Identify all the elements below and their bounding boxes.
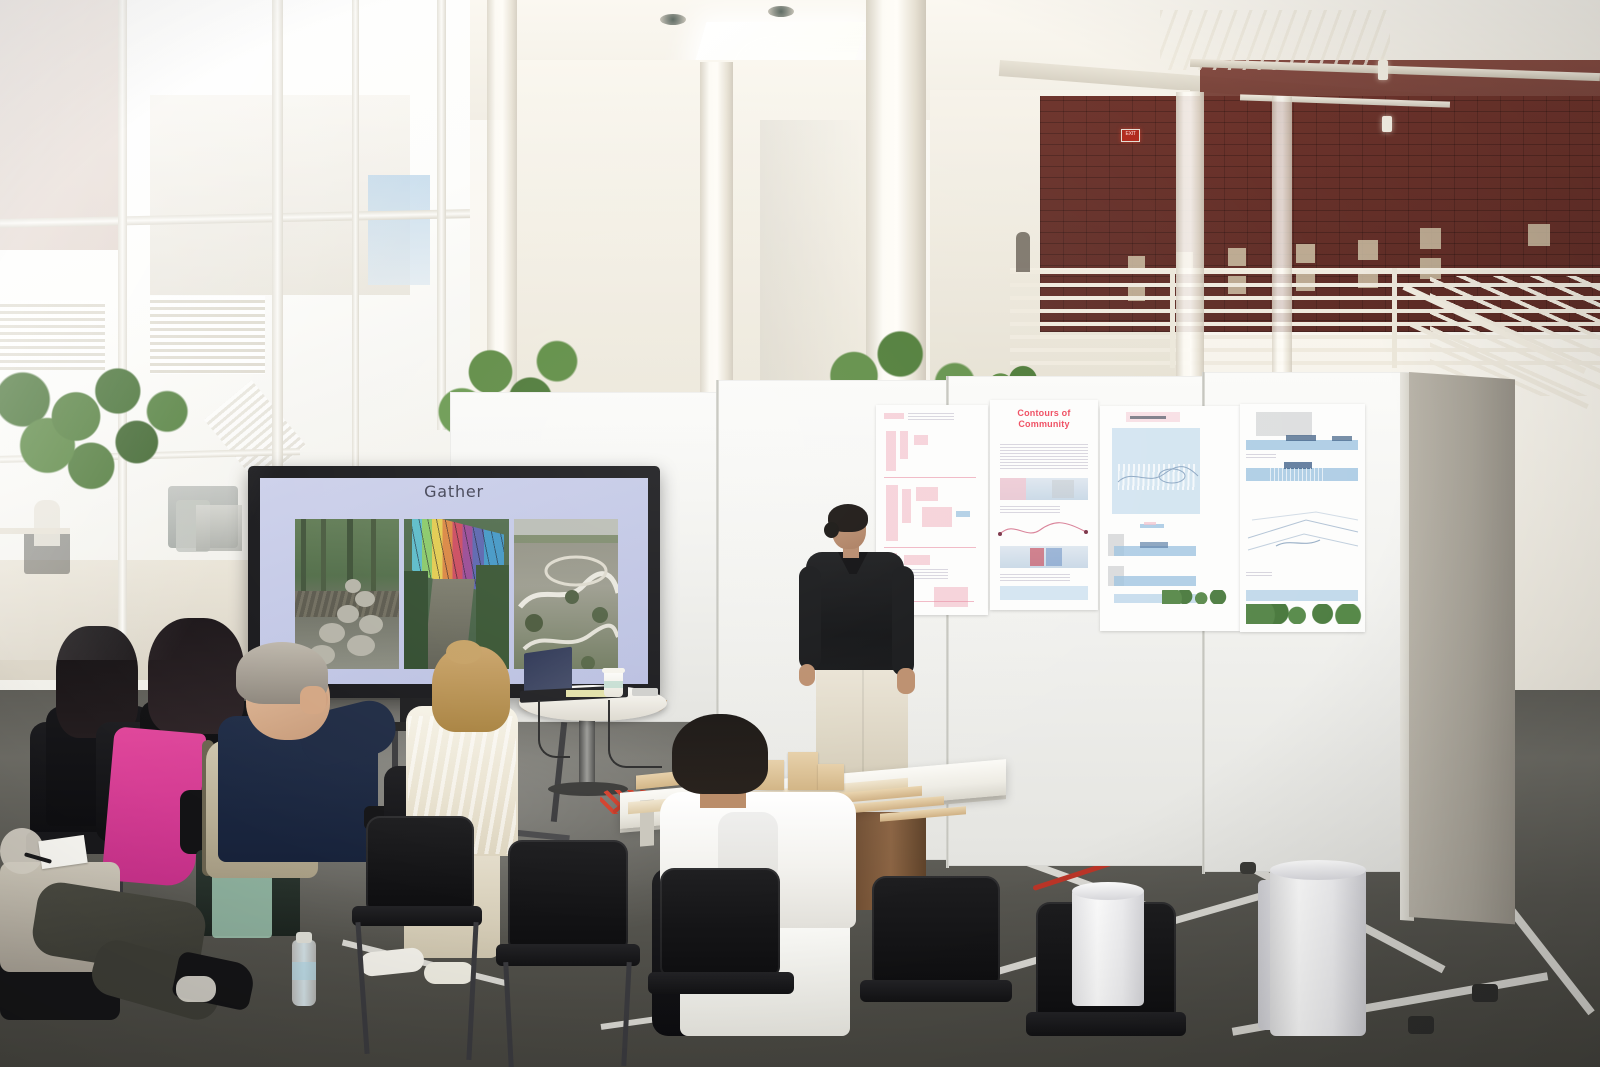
cable xyxy=(538,700,570,758)
empty-chair-seat xyxy=(496,944,640,966)
presenter-arm-left xyxy=(799,566,821,670)
rolled-drawing xyxy=(1072,888,1144,1006)
table-item xyxy=(632,688,658,696)
hanging-light-icon xyxy=(1382,116,1392,132)
perspective-drawing xyxy=(1246,494,1360,564)
rolled-drawing xyxy=(1270,866,1366,1036)
exterior-cart xyxy=(196,505,242,551)
recessed-downlight-icon xyxy=(660,14,686,25)
recessed-downlight-icon xyxy=(768,6,794,17)
coffee-cup-lid xyxy=(602,668,625,673)
indoor-plant xyxy=(0,340,190,510)
diagram-contour-line xyxy=(998,518,1090,542)
panel-caster xyxy=(1240,862,1256,874)
presenter-arm-right xyxy=(892,566,914,676)
table-stem xyxy=(579,712,595,788)
wood-model-block xyxy=(818,764,844,790)
rolled-drawing-end xyxy=(1072,882,1144,900)
empty-chair-back xyxy=(660,868,780,976)
brick-accent-tile xyxy=(1296,244,1315,263)
brick-accent-tile xyxy=(1528,224,1550,246)
panel-caster xyxy=(1472,984,1498,1002)
display-panel-grey xyxy=(1409,372,1515,924)
rolled-drawing-end xyxy=(1270,860,1366,880)
panel-caster xyxy=(1408,1016,1434,1034)
water-bottle-label xyxy=(292,962,316,980)
shoe xyxy=(424,962,474,984)
site-plan-contours xyxy=(1114,458,1200,492)
empty-chair-seat xyxy=(1026,1012,1186,1036)
empty-chair-back xyxy=(872,876,1000,986)
exterior-sky xyxy=(368,175,430,285)
slide-title: Gather xyxy=(260,482,648,501)
slide-image-1 xyxy=(295,519,399,669)
brick-accent-tile xyxy=(1420,228,1441,249)
structural-column xyxy=(1272,96,1292,386)
coffee-cup-sleeve xyxy=(604,681,623,688)
empty-chair-back xyxy=(508,840,628,950)
brick-accent-tile xyxy=(1358,240,1378,260)
presenter-hand-left xyxy=(799,664,815,686)
wood-model-block xyxy=(788,752,818,790)
empty-chair-seat xyxy=(860,980,1012,1002)
poster-sheet-elevations xyxy=(1240,404,1365,632)
railing-post xyxy=(1170,268,1175,368)
sneaker-toe-cap xyxy=(176,976,216,1002)
hanging-light-icon xyxy=(1378,60,1388,80)
audience-person-hand xyxy=(300,686,326,714)
empty-chair-seat xyxy=(352,906,482,926)
presentation-scene-photo: EXIT xyxy=(0,0,1600,1067)
structural-column xyxy=(700,62,733,392)
presenter-trouser-pleat xyxy=(862,660,864,772)
presenter-hair-bun xyxy=(824,522,839,538)
audience-person-head xyxy=(0,828,44,874)
water-bottle-cap xyxy=(296,932,312,943)
exit-sign: EXIT xyxy=(1121,129,1140,142)
exterior-cafe-table xyxy=(0,528,70,534)
poster-sheet-plan xyxy=(1100,406,1240,631)
structural-column xyxy=(1176,92,1204,392)
empty-chair-seat xyxy=(648,972,794,994)
audience-person-hair xyxy=(672,714,768,794)
presenter-hand-right xyxy=(897,668,915,694)
empty-chair-back xyxy=(366,816,474,912)
distant-person xyxy=(1016,232,1030,272)
railing-post xyxy=(1392,268,1397,368)
exit-sign-label: EXIT xyxy=(1122,130,1139,139)
brick-accent-tile xyxy=(1228,248,1246,266)
audience-person-hair-bun xyxy=(446,640,482,664)
cable xyxy=(608,700,662,768)
poster-sheet-title: Contours of Community xyxy=(990,400,1098,610)
exterior-building xyxy=(0,0,120,250)
poster-title: Contours of Community xyxy=(996,408,1092,430)
